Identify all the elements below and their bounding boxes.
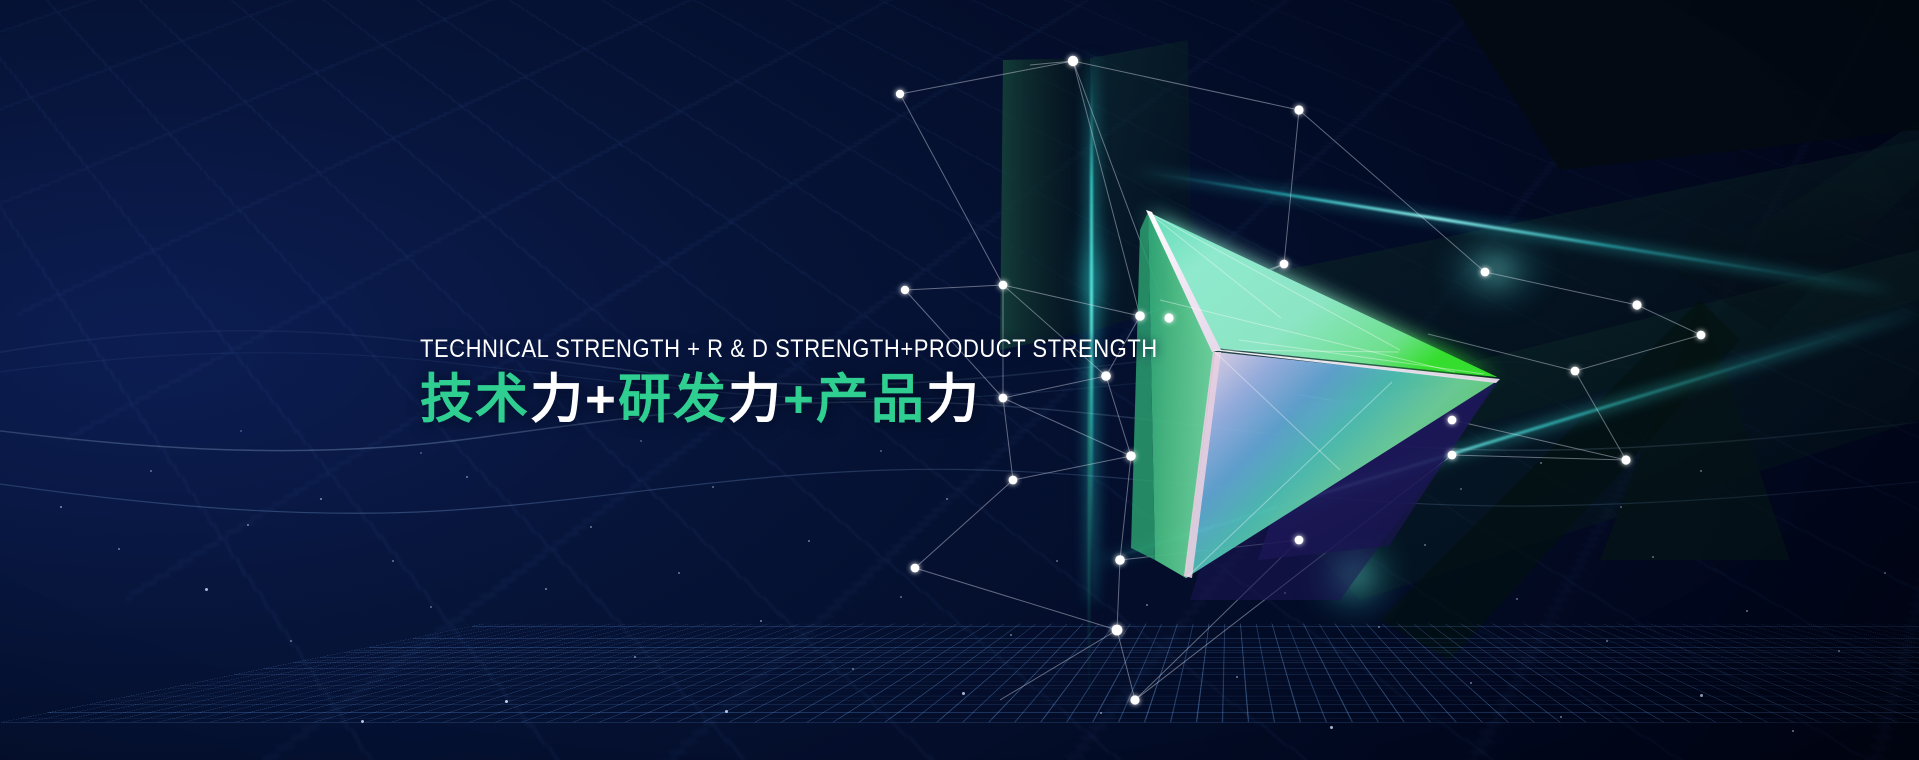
headline-block: TECHNICAL STRENGTH + R & D STRENGTH+PROD… bbox=[420, 336, 1258, 430]
headline-cn-part-4: 力 bbox=[728, 370, 783, 429]
headline-english: TECHNICAL STRENGTH + R & D STRENGTH+PROD… bbox=[420, 336, 1158, 362]
hero-banner: TECHNICAL STRENGTH + R & D STRENGTH+PROD… bbox=[0, 0, 1919, 760]
headline-cn-part-6: 产品 bbox=[816, 370, 926, 429]
headline-cn-part-1: 力 bbox=[530, 370, 585, 429]
headline-cn-part-3: 研发 bbox=[618, 370, 728, 429]
headline-cn-part-7: 力 bbox=[926, 370, 981, 429]
headline-cn-part-0: 技术 bbox=[420, 370, 530, 429]
headline-chinese: 技术力+研发力+产品力 bbox=[420, 370, 1258, 429]
headline-cn-part-2: + bbox=[585, 370, 618, 429]
headline-cn-part-5: + bbox=[783, 370, 816, 429]
